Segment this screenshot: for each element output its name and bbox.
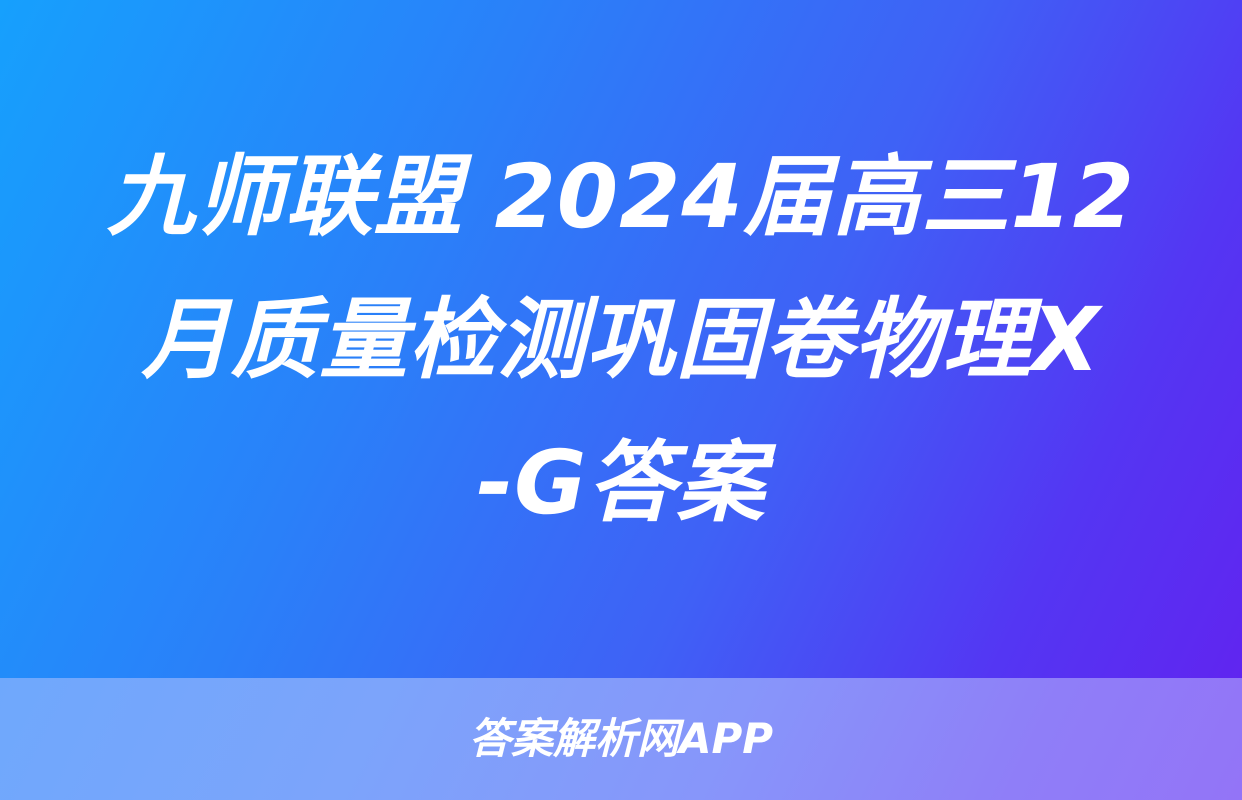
title-line-2: 月质量检测巩固卷物理X [56,268,1186,411]
watermark-text-container: 答案解析网APP [0,678,1242,800]
title-line-3: -G答案 [56,411,1186,554]
title-line-1: 九师联盟 2024届高三12 [56,125,1186,268]
title-block: 九师联盟 2024届高三12 月质量检测巩固卷物理X -G答案 [0,0,1242,678]
answer-cover-image: 九师联盟 2024届高三12 月质量检测巩固卷物理X -G答案 答案解析网APP [0,0,1242,800]
watermark-text: 答案解析网APP [469,718,773,760]
